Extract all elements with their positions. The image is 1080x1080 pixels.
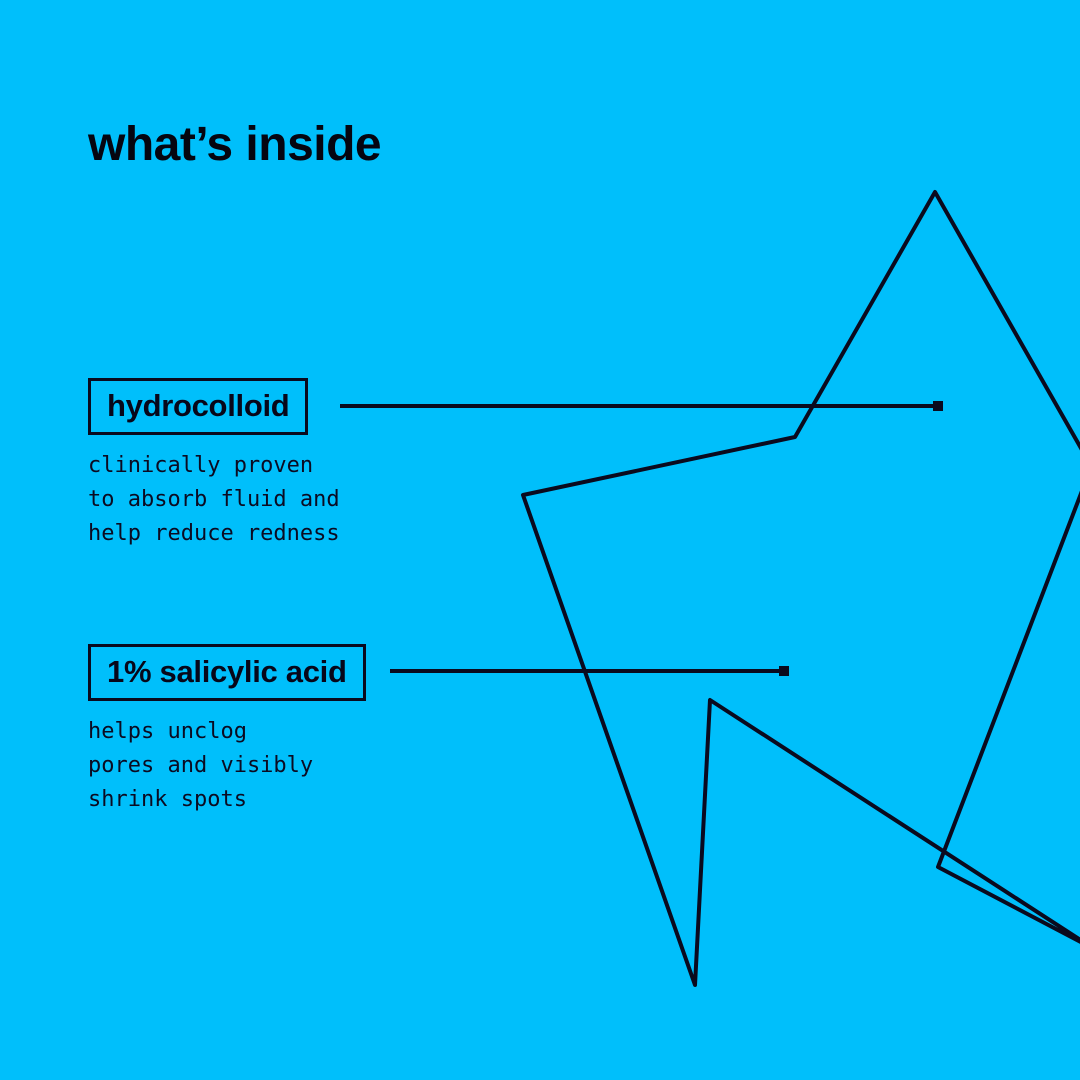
leader-endpoint-hydrocolloid (933, 401, 943, 411)
callout-salicylic-acid-description: helps unclog pores and visibly shrink sp… (88, 715, 366, 817)
page-title: what’s inside (88, 117, 381, 172)
star-outline-path (523, 192, 1080, 985)
leader-line-hydrocolloid (340, 404, 940, 408)
callout-salicylic-acid-box[interactable]: 1% salicylic acid (88, 644, 366, 701)
callout-hydrocolloid-description: clinically proven to absorb fluid and he… (88, 449, 340, 551)
callout-salicylic-acid: 1% salicylic acid helps unclog pores and… (88, 644, 366, 817)
callout-hydrocolloid-label: hydrocolloid (107, 388, 289, 423)
callout-hydrocolloid: hydrocolloid clinically proven to absorb… (88, 378, 340, 551)
leader-line-salicylic-acid (390, 669, 788, 673)
callout-salicylic-acid-label: 1% salicylic acid (107, 654, 347, 689)
poster-canvas: what’s inside hydrocolloid clinically pr… (0, 0, 1080, 1080)
callout-hydrocolloid-box[interactable]: hydrocolloid (88, 378, 308, 435)
leader-endpoint-salicylic-acid (779, 666, 789, 676)
